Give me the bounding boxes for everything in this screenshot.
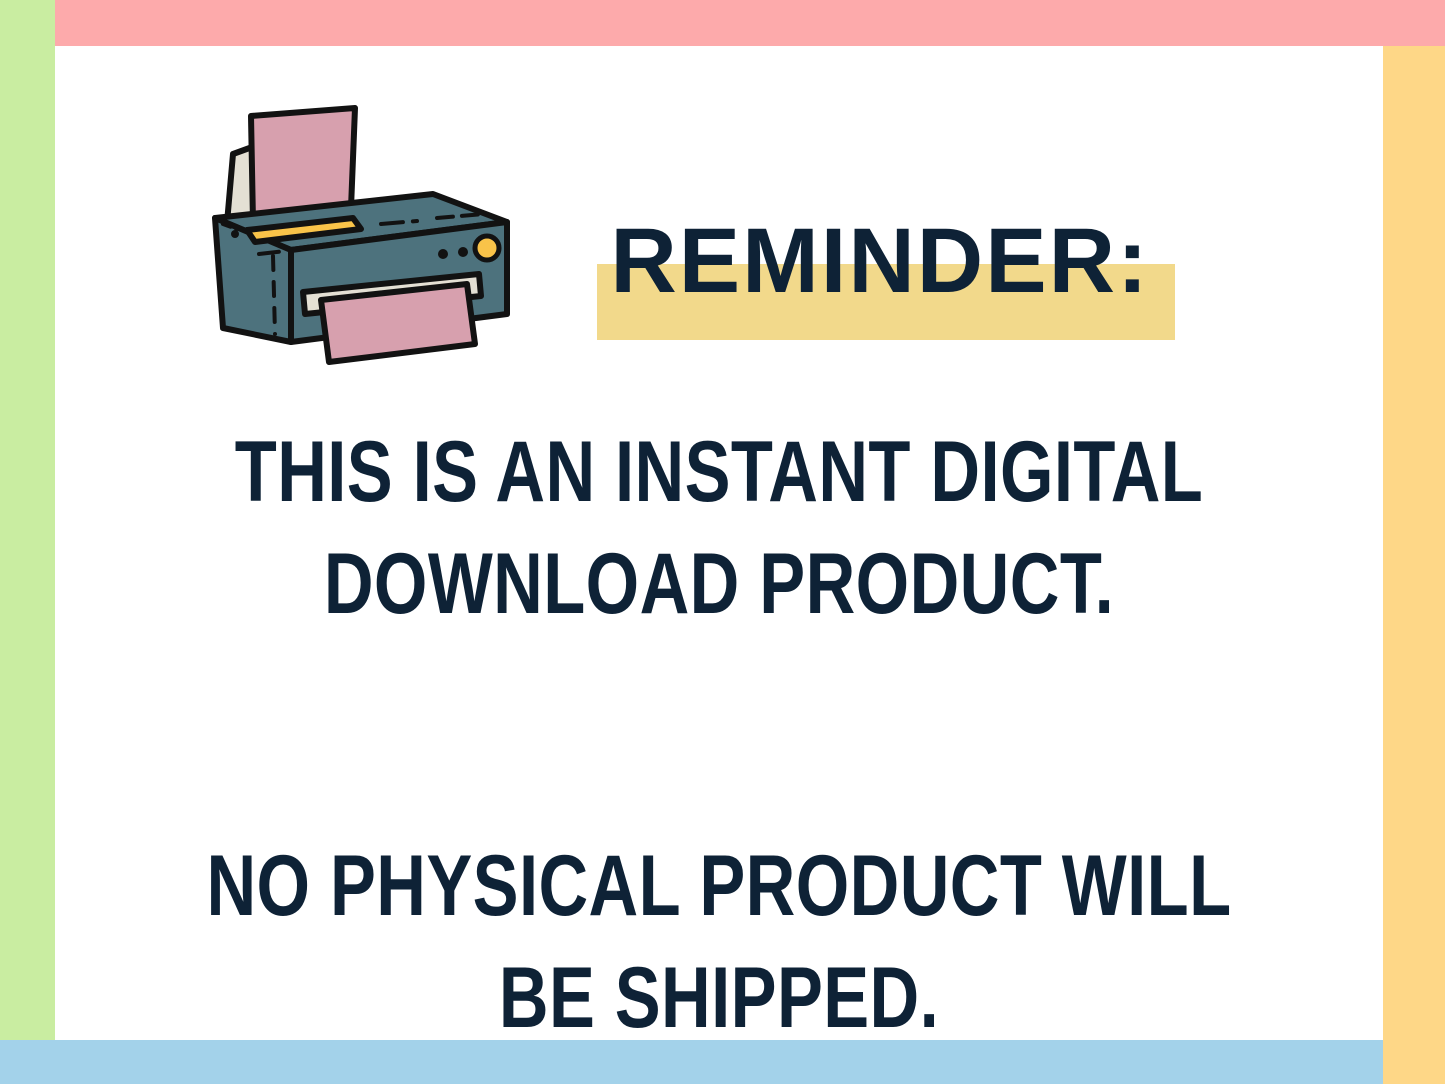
reminder-heading-block: REMINDER: bbox=[575, 211, 1185, 351]
left-green-border-band bbox=[0, 0, 55, 1040]
header-row: REMINDER: bbox=[55, 46, 1383, 376]
body-copy: THIS IS AN INSTANT DIGITAL DOWNLOAD PROD… bbox=[55, 376, 1383, 1054]
printer-icon bbox=[185, 96, 535, 371]
top-pink-border-band bbox=[55, 0, 1445, 46]
no-physical-shipment-notice: NO PHYSICAL PRODUCT WILL BE SHIPPED. bbox=[188, 640, 1250, 1054]
page-title: REMINDER: bbox=[575, 211, 1185, 311]
instant-download-notice: THIS IS AN INSTANT DIGITAL DOWNLOAD PROD… bbox=[188, 376, 1250, 640]
reminder-card: REMINDER: THIS IS AN INSTANT DIGITAL DOW… bbox=[0, 0, 1445, 1084]
card-content-area: REMINDER: THIS IS AN INSTANT DIGITAL DOW… bbox=[55, 46, 1383, 1040]
right-yellow-border-band bbox=[1383, 46, 1445, 1084]
